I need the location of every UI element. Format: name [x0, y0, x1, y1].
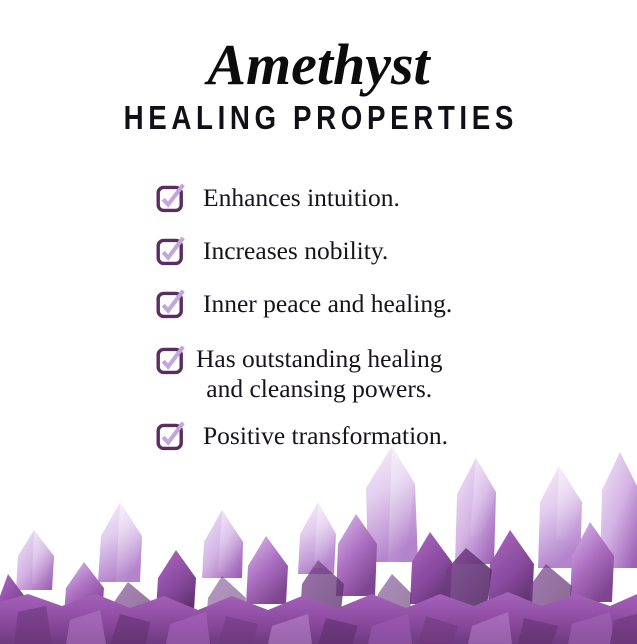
checked-checkbox-icon [156, 184, 184, 212]
poster-header: Amethyst HEALING PROPERTIES [0, 0, 637, 136]
page-title: Amethyst [0, 0, 637, 96]
list-item: Inner peace and healing. [0, 288, 637, 319]
list-item: Increases nobility. [0, 235, 637, 266]
list-item-label: Inner peace and healing. [203, 288, 452, 319]
checked-checkbox-icon [156, 290, 184, 318]
checked-checkbox-icon [156, 346, 184, 374]
list-item: Enhances intuition. [0, 182, 637, 213]
amethyst-poster: Amethyst HEALING PROPERTIES Enhances int… [0, 0, 637, 644]
list-item: Has outstanding healing and cleansing po… [0, 344, 637, 404]
list-item-label: Enhances intuition. [203, 182, 400, 213]
healing-properties-list: Enhances intuition. Increases nobility. … [0, 178, 637, 451]
page-subtitle: HEALING PROPERTIES [51, 96, 586, 136]
list-item-label: Increases nobility. [203, 235, 388, 266]
list-item-label: Has outstanding healing and cleansing po… [196, 344, 442, 404]
amethyst-crystal-cluster [0, 444, 637, 644]
checked-checkbox-icon [156, 237, 184, 265]
